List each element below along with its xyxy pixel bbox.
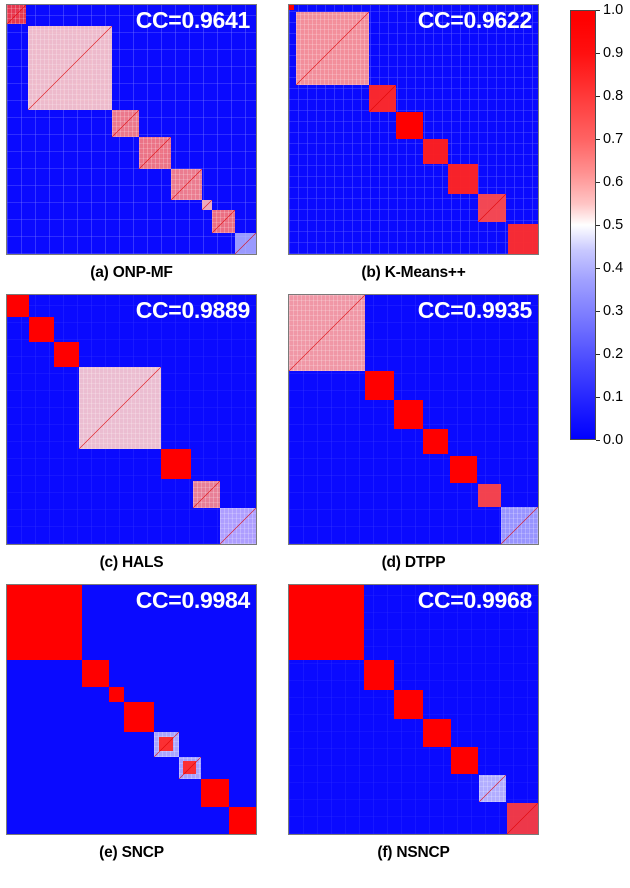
diagonal-block xyxy=(423,139,448,164)
tick-label: 0.7 xyxy=(603,132,623,147)
tick-mark xyxy=(596,96,600,97)
block-diagonal xyxy=(193,481,220,508)
diagonal-block xyxy=(289,295,365,371)
block-texture xyxy=(171,169,202,200)
block-diagonal xyxy=(507,803,538,834)
caption-b: (b) K-Means++ xyxy=(288,264,539,282)
tick-label: 0.5 xyxy=(603,218,623,233)
tick-label: 0.3 xyxy=(603,304,623,319)
tick-label: 0.4 xyxy=(603,261,623,276)
block-texture xyxy=(7,5,26,24)
block-diagonal xyxy=(7,5,26,24)
cc-annotation-a: CC=0.9641 xyxy=(136,7,250,34)
colorbar: 1.0 0.9 0.8 0.7 0.6 0.5 xyxy=(570,10,630,440)
block-diagonal xyxy=(479,775,505,801)
block-diagonal xyxy=(28,26,111,109)
diagonal-block xyxy=(451,747,478,774)
tick-mark xyxy=(596,225,600,226)
panel-f-nsncp: CC=0.9968 (f) NSNCP xyxy=(288,584,539,862)
diagonal-block xyxy=(220,508,256,544)
diagonal-block xyxy=(79,367,161,449)
consensus-matrix-figure: CC=0.9641 (a) ONP-MF xyxy=(0,0,630,888)
diagonal-block xyxy=(161,449,191,479)
block-diagonal xyxy=(369,85,396,112)
diagonal-block xyxy=(365,371,394,400)
panel-grid: CC=0.9641 (a) ONP-MF xyxy=(0,0,560,888)
diagonal-block xyxy=(109,687,124,702)
tick-mark xyxy=(596,139,600,140)
block-diagonal xyxy=(202,200,212,210)
tick-mark xyxy=(596,53,600,54)
tick-label: 0.6 xyxy=(603,175,623,190)
diagonal-block xyxy=(229,807,256,834)
diagonal-block xyxy=(28,26,111,109)
tick-label: 0.9 xyxy=(603,46,623,61)
diagonal-block xyxy=(7,585,82,660)
block-diagonal xyxy=(501,507,538,544)
block-diagonal xyxy=(289,295,365,371)
caption-f: (f) NSNCP xyxy=(288,844,539,862)
block-texture xyxy=(212,210,234,232)
cc-annotation-b: CC=0.9622 xyxy=(418,7,532,34)
panel-b-kmeans-plusplus: CC=0.9622 (b) K-Means++ xyxy=(288,4,539,282)
diagonal-block xyxy=(423,719,450,746)
diagonal-block xyxy=(394,690,424,720)
heatmap-a: CC=0.9641 xyxy=(6,4,257,255)
heatmap-c: CC=0.9889 xyxy=(6,294,257,545)
diagonal-block xyxy=(124,702,154,732)
diagonal-block xyxy=(507,803,538,834)
block-diagonal xyxy=(212,210,234,232)
caption-c: (c) HALS xyxy=(6,554,257,572)
diagonal-block xyxy=(501,507,538,544)
diagonal-block xyxy=(508,224,538,254)
diagonal-block xyxy=(394,400,424,430)
diagonal-block xyxy=(369,85,396,112)
panel-d-dtpp: CC=0.9935 (d) DTPP xyxy=(288,294,539,572)
diagonal-block xyxy=(7,295,29,317)
block-texture xyxy=(193,481,220,508)
diagonal-block xyxy=(171,169,202,200)
tick-mark xyxy=(596,311,600,312)
heatmap-f: CC=0.9968 xyxy=(288,584,539,835)
block-texture xyxy=(501,507,538,544)
diagonal-block xyxy=(423,429,448,454)
diagonal-block xyxy=(112,110,139,137)
diagonal-block xyxy=(193,481,220,508)
diagonal-block xyxy=(139,137,171,169)
diagonal-block xyxy=(201,779,228,806)
cc-annotation-f: CC=0.9968 xyxy=(418,587,532,614)
heatmap-b: CC=0.9622 xyxy=(288,4,539,255)
block-texture xyxy=(139,137,171,169)
tick-mark xyxy=(596,354,600,355)
caption-e: (e) SNCP xyxy=(6,844,257,862)
block-texture xyxy=(479,775,505,801)
block-texture xyxy=(296,12,368,84)
diagonal-block xyxy=(7,5,26,24)
block-diagonal xyxy=(79,367,161,449)
diagonal-block xyxy=(212,210,234,232)
diagonal-block xyxy=(448,164,478,194)
tick-label: 0.2 xyxy=(603,347,623,362)
diagonal-block xyxy=(179,757,201,779)
panel-e-sncp: CC=0.9984 (e) SNCP xyxy=(6,584,257,862)
diagonal-block xyxy=(289,585,364,660)
diagonal-block xyxy=(202,200,212,210)
block-texture xyxy=(289,295,365,371)
inner-core xyxy=(183,761,195,773)
panel-c-hals: CC=0.9889 (c) HALS xyxy=(6,294,257,572)
inner-core xyxy=(159,737,173,751)
caption-d: (d) DTPP xyxy=(288,554,539,572)
block-texture xyxy=(79,367,161,449)
block-diagonal xyxy=(139,137,171,169)
tick-mark xyxy=(596,397,600,398)
cc-annotation-c: CC=0.9889 xyxy=(136,297,250,324)
tick-label: 1.0 xyxy=(603,3,623,18)
diagonal-block xyxy=(396,112,423,139)
panel-a-onp-mf: CC=0.9641 (a) ONP-MF xyxy=(6,4,257,282)
block-diagonal xyxy=(112,110,139,137)
diagonal-block xyxy=(479,775,505,801)
block-diagonal xyxy=(235,233,256,254)
diagonal-block xyxy=(478,194,505,221)
diagonal-block xyxy=(450,456,477,483)
diagonal-block xyxy=(478,484,500,506)
diagonal-block xyxy=(82,660,109,687)
tick-mark xyxy=(596,10,600,11)
caption-a: (a) ONP-MF xyxy=(6,264,257,282)
diagonal-block xyxy=(235,233,256,254)
block-texture xyxy=(28,26,111,109)
block-diagonal xyxy=(478,194,505,221)
colorbar-gradient xyxy=(570,10,596,440)
diagonal-block xyxy=(289,5,294,10)
cc-annotation-d: CC=0.9935 xyxy=(418,297,532,324)
tick-label: 0.8 xyxy=(603,89,623,104)
diagonal-block xyxy=(154,732,179,757)
tick-mark xyxy=(596,440,600,441)
tick-label: 0.1 xyxy=(603,390,623,405)
block-diagonal xyxy=(220,508,256,544)
tick-mark xyxy=(596,268,600,269)
cc-annotation-e: CC=0.9984 xyxy=(136,587,250,614)
tick-mark xyxy=(596,182,600,183)
heatmap-d: CC=0.9935 xyxy=(288,294,539,545)
diagonal-block xyxy=(54,342,79,367)
block-diagonal xyxy=(296,12,368,84)
heatmap-e: CC=0.9984 xyxy=(6,584,257,835)
block-texture xyxy=(112,110,139,137)
tick-label: 0.0 xyxy=(603,433,623,448)
diagonal-block xyxy=(29,317,54,342)
block-diagonal xyxy=(171,169,202,200)
diagonal-block xyxy=(296,12,368,84)
diagonal-block xyxy=(364,660,394,690)
colorbar-ticks: 1.0 0.9 0.8 0.7 0.6 0.5 xyxy=(596,10,630,440)
block-texture xyxy=(220,508,256,544)
